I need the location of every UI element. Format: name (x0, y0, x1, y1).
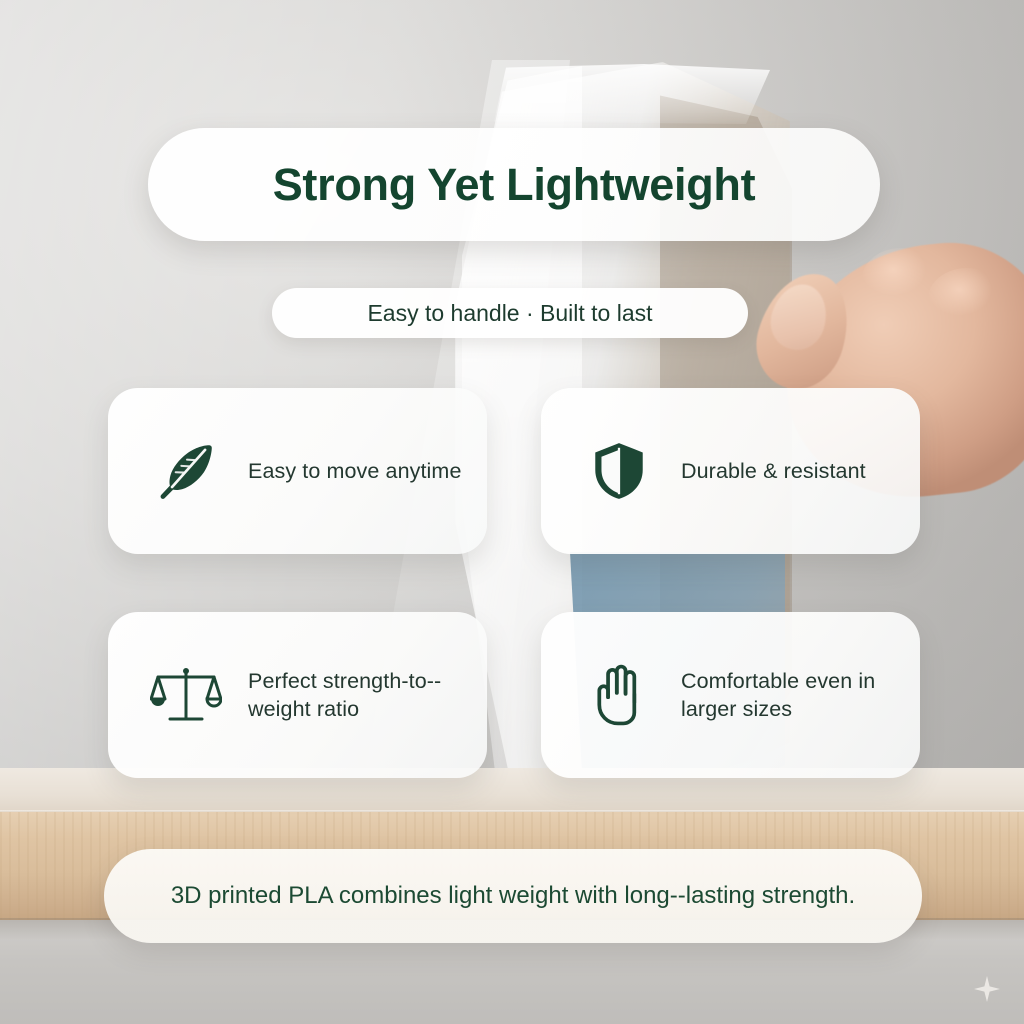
feature-card-strength-weight[interactable]: Perfect strength-to--weight ratio (108, 612, 487, 778)
feature-card-comfortable[interactable]: Comfortable even in larger sizes (541, 612, 920, 778)
page-title: Strong Yet Lightweight (273, 159, 756, 211)
subtitle-pill: Easy to handle · Built to last (272, 288, 748, 338)
feature-label: Easy to move anytime (248, 457, 462, 485)
infographic-canvas: Strong Yet Lightweight Easy to handle · … (0, 0, 1024, 1024)
feature-label: Perfect strength-to--weight ratio (248, 667, 465, 724)
feather-icon (150, 435, 222, 507)
feature-card-grid: Easy to move anytime Durable & resistant (108, 388, 920, 778)
hand-icon (583, 659, 655, 731)
scales-icon (150, 659, 222, 731)
footer-text: 3D printed PLA combines light weight wit… (171, 879, 855, 912)
feature-label: Durable & resistant (681, 457, 866, 485)
title-pill: Strong Yet Lightweight (148, 128, 880, 241)
page-subtitle: Easy to handle · Built to last (367, 300, 652, 327)
feature-card-durable[interactable]: Durable & resistant (541, 388, 920, 554)
feature-label: Comfortable even in larger sizes (681, 667, 898, 724)
footer-pill: 3D printed PLA combines light weight wit… (104, 849, 922, 943)
shield-icon (583, 435, 655, 507)
feature-card-easy-to-move[interactable]: Easy to move anytime (108, 388, 487, 554)
